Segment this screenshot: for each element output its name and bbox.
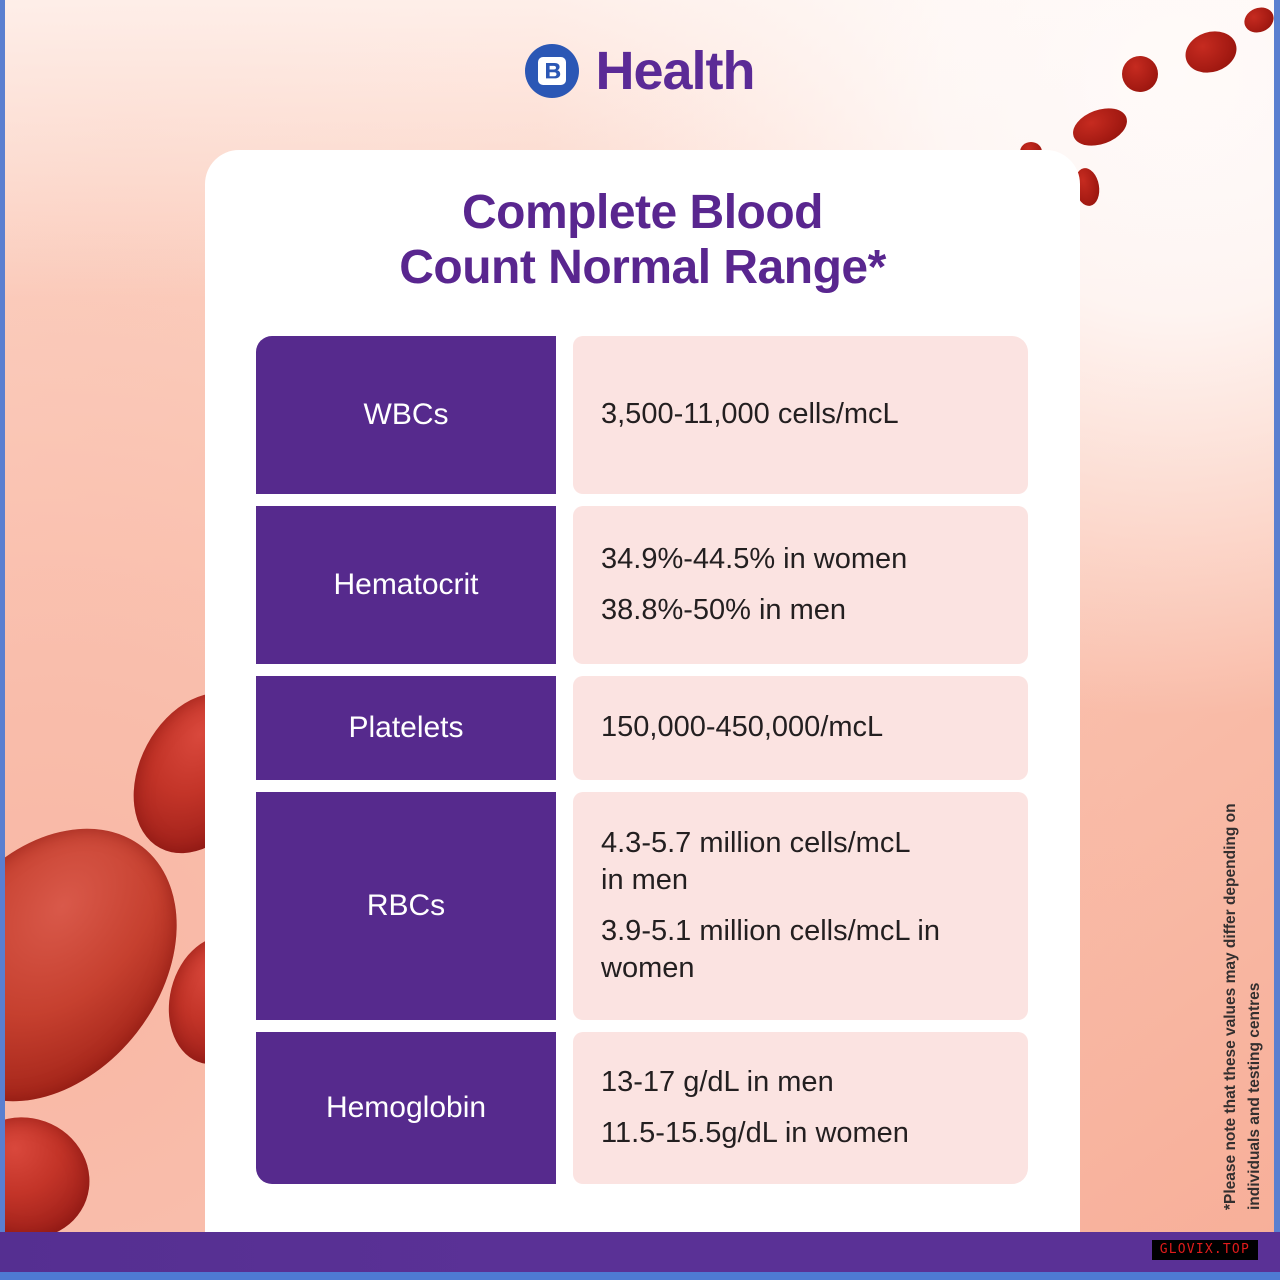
table-row: Hematocrit 34.9%-44.5% in women 38.8%-50… bbox=[256, 506, 1028, 664]
content-card: Complete Blood Count Normal Range* WBCs … bbox=[205, 150, 1080, 1232]
value-line: 13-17 g/dL in men bbox=[601, 1064, 1000, 1101]
disclaimer-note: *Please note that these values may diffe… bbox=[1220, 735, 1266, 1215]
table-row: RBCs 4.3-5.7 million cells/mcL in men 3.… bbox=[256, 792, 1028, 1020]
row-label-hemoglobin: Hemoglobin bbox=[256, 1032, 556, 1184]
row-value-platelets: 150,000-450,000/mcL bbox=[573, 676, 1028, 780]
page-title: Complete Blood Count Normal Range* bbox=[205, 186, 1080, 295]
table-row: WBCs 3,500-11,000 cells/mcL bbox=[256, 336, 1028, 494]
disclaimer-text: *Please note that these values may diffe… bbox=[1219, 740, 1267, 1210]
brand-name: Health bbox=[595, 44, 754, 98]
value-line: 3.9-5.1 million cells/mcL in women bbox=[601, 913, 961, 987]
left-border-accent bbox=[0, 0, 5, 1280]
row-label-wbcs: WBCs bbox=[256, 336, 556, 494]
b-logo-icon bbox=[525, 44, 579, 98]
value-line: 34.9%-44.5% in women bbox=[601, 541, 1000, 578]
row-value-rbcs: 4.3-5.7 million cells/mcL in men 3.9-5.1… bbox=[573, 792, 1028, 1020]
page-title-line-2: Count Normal Range* bbox=[205, 241, 1080, 296]
table-row: Platelets 150,000-450,000/mcL bbox=[256, 676, 1028, 780]
value-line: 11.5-15.5g/dL in women bbox=[601, 1115, 1000, 1152]
table-row: Hemoglobin 13-17 g/dL in men 11.5-15.5g/… bbox=[256, 1032, 1028, 1184]
row-label-rbcs: RBCs bbox=[256, 792, 556, 1020]
row-value-hemoglobin: 13-17 g/dL in men 11.5-15.5g/dL in women bbox=[573, 1032, 1028, 1184]
value-line: 3,500-11,000 cells/mcL bbox=[601, 396, 1000, 433]
brand-logo: Health bbox=[0, 44, 1280, 98]
value-line: 4.3-5.7 million cells/mcL in men bbox=[601, 825, 921, 899]
watermark: GLOVIX.TOP bbox=[1152, 1240, 1258, 1260]
value-line: 150,000-450,000/mcL bbox=[601, 709, 1000, 746]
infographic-canvas: Health Complete Blood Count Normal Range… bbox=[0, 0, 1280, 1280]
page-title-line-1: Complete Blood bbox=[205, 186, 1080, 241]
row-value-hematocrit: 34.9%-44.5% in women 38.8%-50% in men bbox=[573, 506, 1028, 664]
cbc-range-table: WBCs 3,500-11,000 cells/mcL Hematocrit 3… bbox=[256, 336, 1028, 1184]
value-line: 38.8%-50% in men bbox=[601, 592, 1000, 629]
row-label-platelets: Platelets bbox=[256, 676, 556, 780]
right-border-accent bbox=[1274, 0, 1280, 1280]
row-value-wbcs: 3,500-11,000 cells/mcL bbox=[573, 336, 1028, 494]
row-label-hematocrit: Hematocrit bbox=[256, 506, 556, 664]
bottom-border-accent bbox=[0, 1272, 1280, 1280]
